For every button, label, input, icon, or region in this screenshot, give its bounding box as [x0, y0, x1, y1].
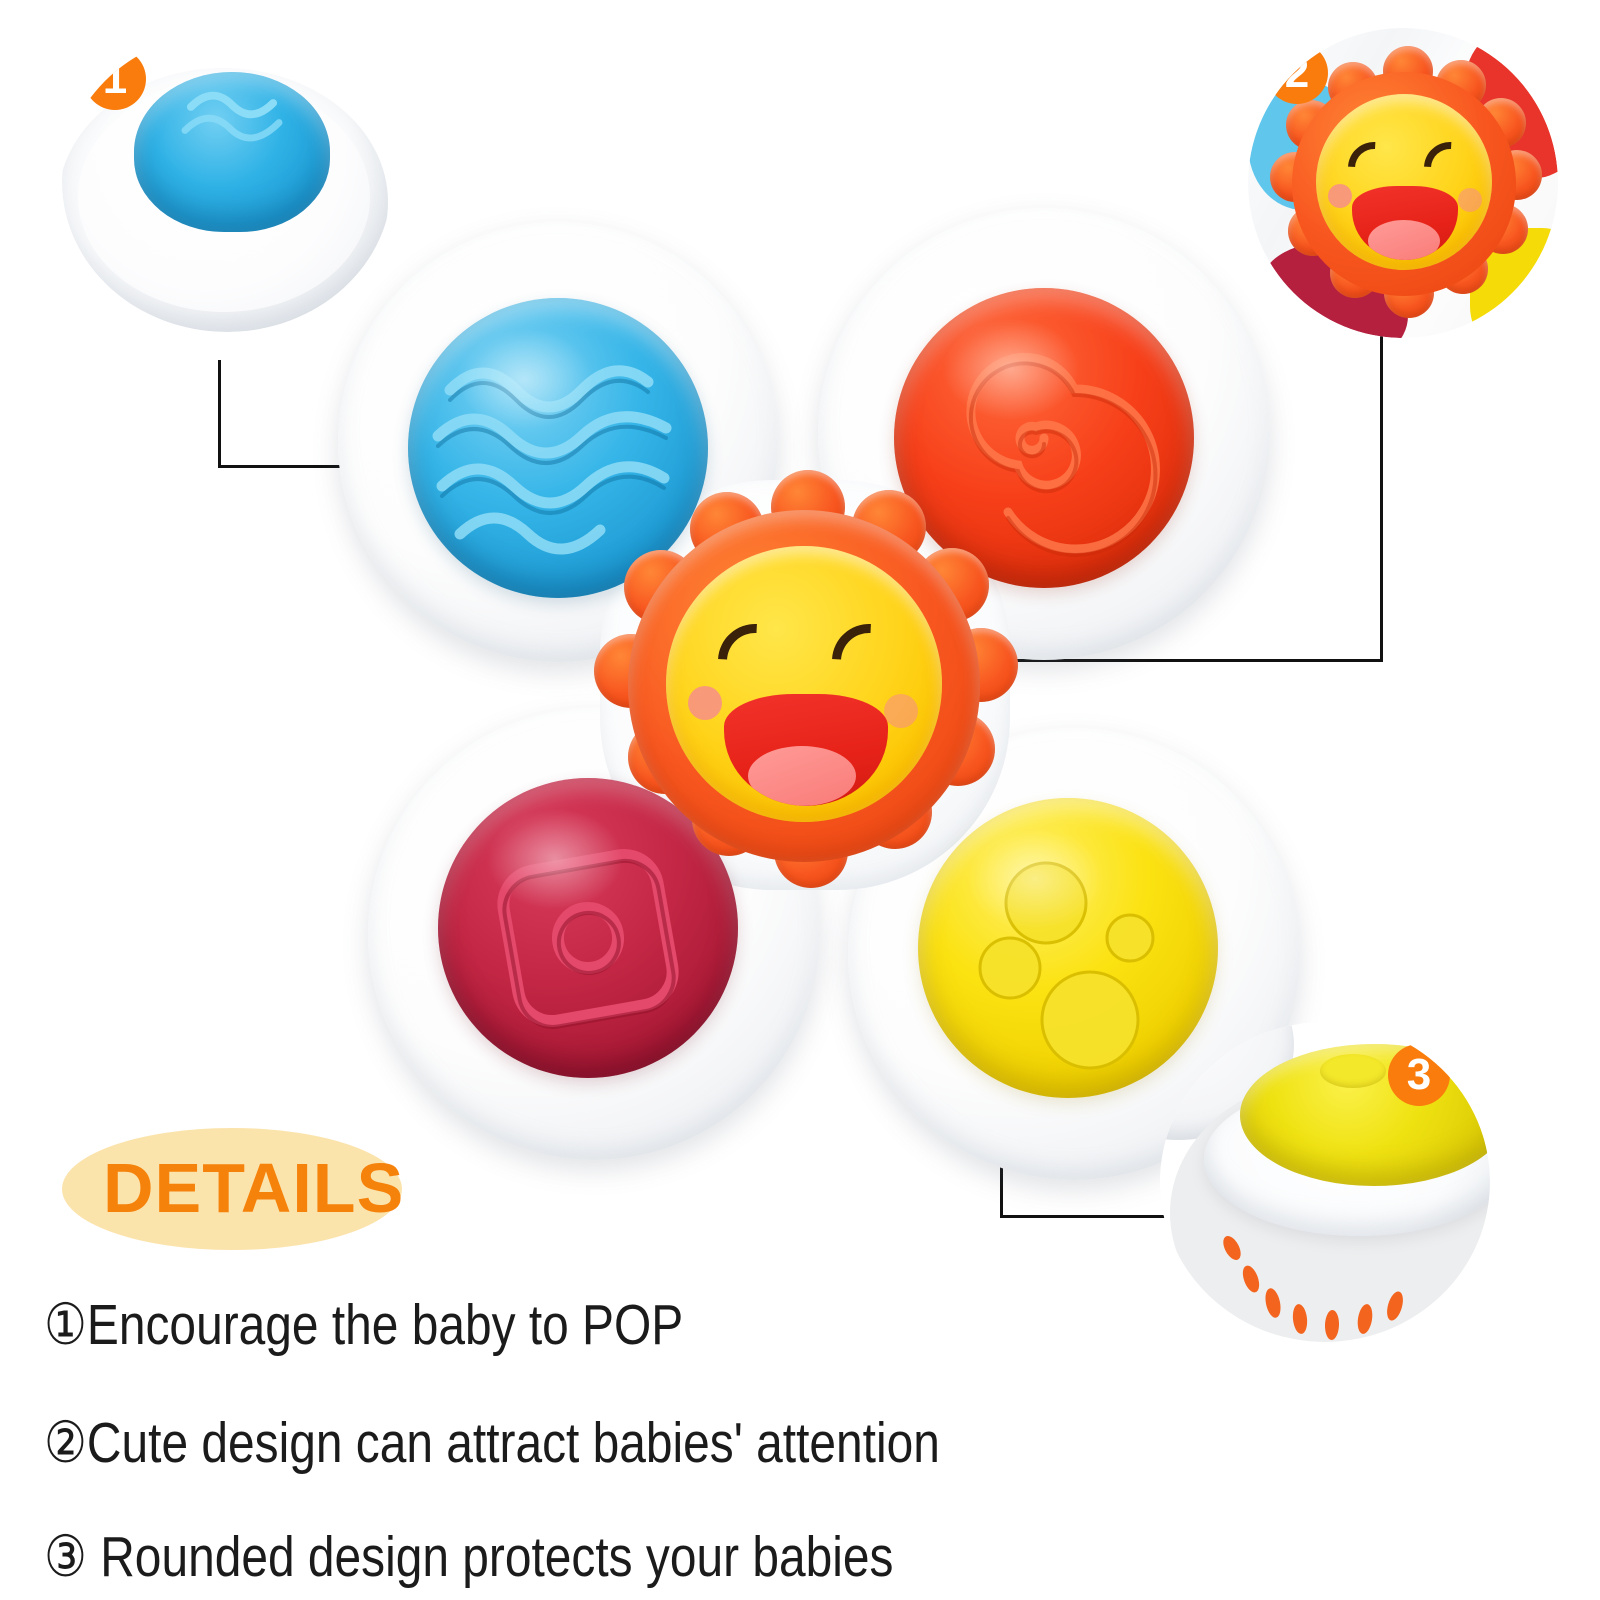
details-item-1-text: Encourage the baby to POP [87, 1293, 683, 1357]
callout-1[interactable]: 1 [62, 32, 392, 332]
tongue [748, 746, 856, 806]
details-item-2-text: Cute design can attract babies' attentio… [87, 1411, 940, 1475]
callout-3-badge: 3 [1388, 1044, 1450, 1106]
callout-2[interactable]: 2 [1248, 28, 1558, 338]
details-item-3: ③ Rounded design protects your babies [44, 1524, 893, 1590]
leader-line-2-vertical [1380, 330, 1383, 662]
details-item-1-marker: ① [44, 1293, 87, 1357]
details-item-2-marker: ② [44, 1411, 87, 1475]
details-item-1: ①Encourage the baby to POP [44, 1292, 683, 1358]
product-detail-page: 1 [0, 0, 1600, 1600]
details-heading-label: DETAILS [103, 1150, 404, 1226]
details-item-2: ②Cute design can attract babies' attenti… [44, 1410, 940, 1476]
sunflower-face [666, 546, 942, 822]
details-item-3-text: Rounded design protects your babies [87, 1525, 894, 1589]
main-product-photo [300, 180, 1300, 1180]
left-cheek [688, 686, 722, 720]
callout-1-badge: 1 [84, 48, 146, 110]
leader-line-1-vertical [218, 360, 221, 468]
details-item-3-marker: ③ [44, 1525, 87, 1589]
callout-2-badge: 2 [1266, 42, 1328, 104]
callout-1-wave-emboss [134, 72, 330, 232]
sunflower-spinner[interactable] [588, 470, 1020, 902]
callout-3[interactable]: 3 [1160, 1022, 1490, 1342]
right-cheek [884, 694, 918, 728]
mouth [724, 694, 888, 806]
